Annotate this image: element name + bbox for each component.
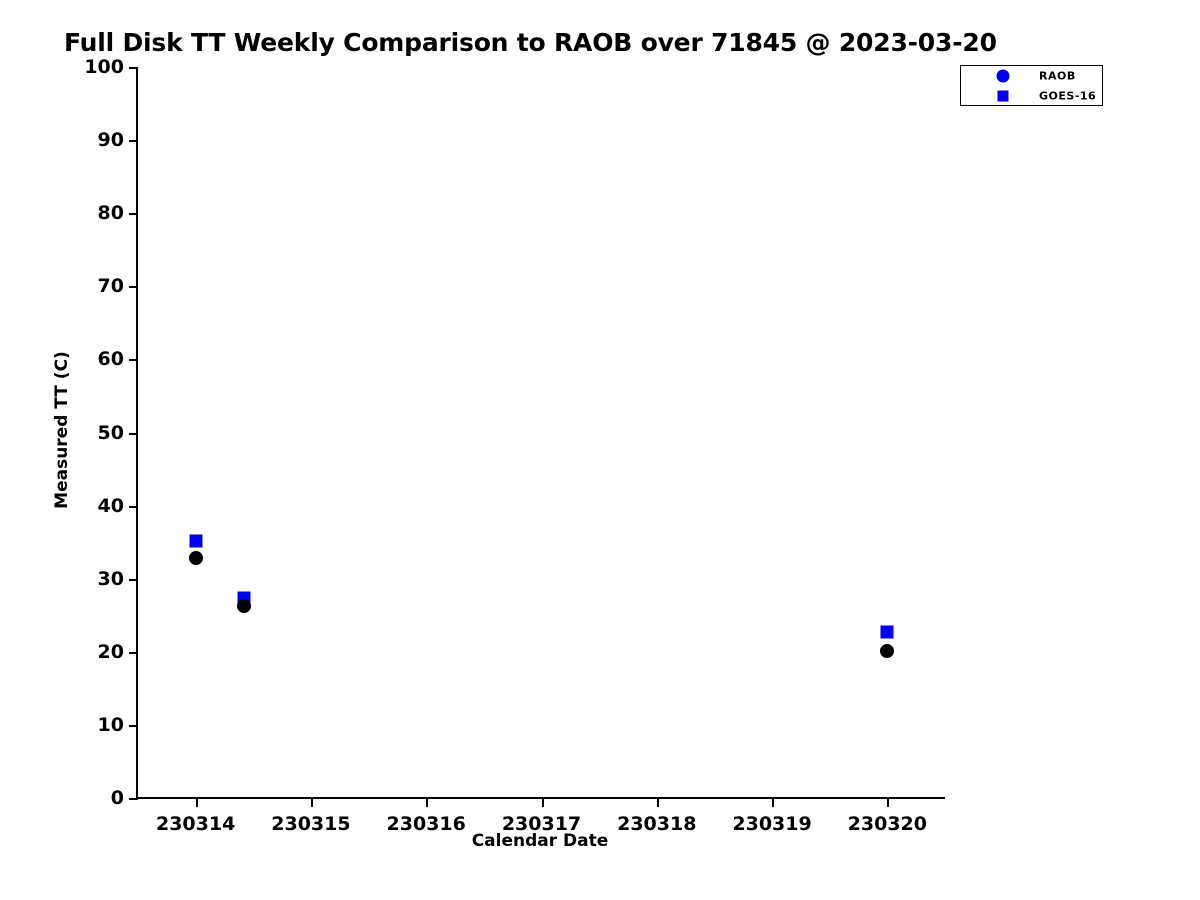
legend-label: RAOB — [1039, 70, 1076, 83]
x-tick-mark — [542, 798, 544, 807]
y-tick-mark — [129, 433, 138, 435]
x-tick-mark — [772, 798, 774, 807]
y-axis-label: Measured TT (C) — [52, 351, 72, 509]
x-tick-mark — [657, 798, 659, 807]
data-point-raob — [880, 644, 894, 658]
x-tick-mark — [311, 798, 313, 807]
y-tick-label: 30 — [98, 568, 124, 590]
y-tick-mark — [129, 213, 138, 215]
y-tick-label: 70 — [98, 275, 124, 297]
y-tick-mark — [129, 798, 138, 800]
x-tick-mark — [196, 798, 198, 807]
plot-area: 0102030405060708090100 23031423031523031… — [138, 67, 945, 798]
y-tick-mark — [129, 67, 138, 69]
x-axis-label: Calendar Date — [472, 831, 609, 851]
y-tick-mark — [129, 359, 138, 361]
x-tick-mark — [426, 798, 428, 807]
y-tick-label: 50 — [98, 422, 124, 444]
x-tick-label: 230320 — [848, 813, 927, 835]
y-tick-mark — [129, 579, 138, 581]
legend-marker-square-icon — [998, 91, 1009, 102]
y-tick-label: 90 — [98, 129, 124, 151]
data-point-raob — [189, 551, 203, 565]
y-tick-mark — [129, 506, 138, 508]
x-tick-label: 230318 — [617, 813, 696, 835]
y-tick-label: 40 — [98, 495, 124, 517]
y-tick-label: 10 — [98, 714, 124, 736]
data-point-goes-16 — [189, 535, 202, 548]
legend-marker-circle-icon — [997, 70, 1010, 83]
legend-label: GOES-16 — [1039, 90, 1096, 103]
y-tick-mark — [129, 140, 138, 142]
y-tick-mark — [129, 652, 138, 654]
x-tick-label: 230315 — [271, 813, 350, 835]
y-tick-label: 80 — [98, 202, 124, 224]
y-tick-label: 60 — [98, 348, 124, 370]
chart-title: Full Disk TT Weekly Comparison to RAOB o… — [64, 28, 997, 57]
chart-page: Full Disk TT Weekly Comparison to RAOB o… — [0, 0, 1200, 900]
data-point-raob — [237, 599, 251, 613]
data-point-goes-16 — [881, 626, 894, 639]
y-tick-label: 100 — [84, 56, 124, 78]
x-tick-label: 230314 — [156, 813, 235, 835]
x-tick-mark — [887, 798, 889, 807]
y-tick-label: 0 — [111, 787, 124, 809]
y-tick-mark — [129, 286, 138, 288]
legend-entry: GOES-16 — [961, 86, 1102, 106]
y-tick-label: 20 — [98, 641, 124, 663]
x-tick-label: 230319 — [732, 813, 811, 835]
y-tick-mark — [129, 725, 138, 727]
chart-legend: RAOBGOES-16 — [960, 65, 1103, 106]
x-tick-label: 230316 — [387, 813, 466, 835]
legend-entry: RAOB — [961, 66, 1102, 86]
